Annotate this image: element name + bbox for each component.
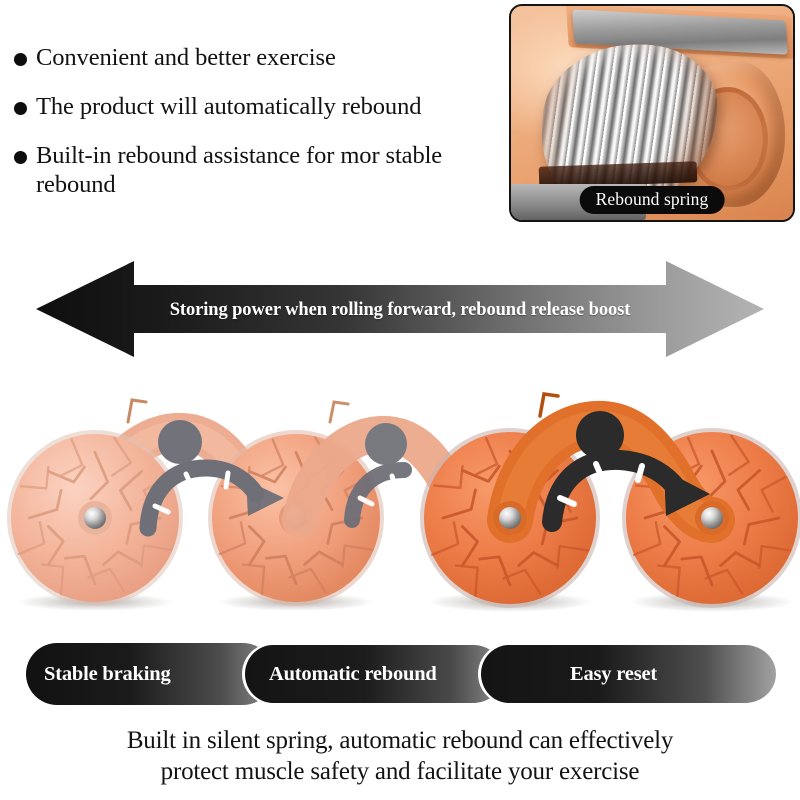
stage-active bbox=[420, 394, 800, 608]
product-photo: Rebound spring bbox=[509, 4, 795, 222]
pill-label: Easy reset bbox=[570, 663, 657, 686]
bullet-dot-icon bbox=[14, 53, 27, 66]
rebound-illustration bbox=[0, 370, 800, 620]
caption-line-1: Built in silent spring, automatic reboun… bbox=[0, 726, 800, 757]
list-item: The product will automatically rebound bbox=[14, 93, 514, 122]
footer-caption: Built in silent spring, automatic reboun… bbox=[0, 726, 800, 787]
feature-text: The product will automatically rebound bbox=[36, 93, 421, 122]
feature-text: Built-in rebound assistance for mor stab… bbox=[36, 142, 456, 200]
stage-light bbox=[7, 400, 384, 606]
benefit-pill-stable-braking: Stable braking bbox=[26, 643, 274, 705]
bullet-dot-icon bbox=[14, 102, 27, 115]
infographic-page: Convenient and better exercise The produ… bbox=[0, 0, 800, 800]
benefit-pill-easy-reset: Easy reset bbox=[478, 643, 776, 705]
status-badge: Rebound spring bbox=[580, 186, 725, 214]
double-arrow-icon bbox=[36, 255, 764, 363]
wheel-sequence-graphic bbox=[0, 370, 800, 620]
benefit-pill-bar: Stable braking Automatic rebound Easy re… bbox=[26, 643, 776, 705]
list-item: Convenient and better exercise bbox=[14, 44, 514, 73]
handle-pad bbox=[365, 423, 407, 465]
list-item: Built-in rebound assistance for mor stab… bbox=[14, 142, 514, 200]
feature-text: Convenient and better exercise bbox=[36, 44, 336, 73]
arrow-banner: Storing power when rolling forward, rebo… bbox=[36, 255, 764, 363]
benefit-pill-automatic-rebound: Automatic rebound bbox=[242, 643, 504, 705]
caption-line-2: protect muscle safety and facilitate you… bbox=[0, 757, 800, 788]
pill-label: Stable braking bbox=[44, 663, 171, 686]
pill-label: Automatic rebound bbox=[269, 663, 437, 686]
bullet-dot-icon bbox=[14, 151, 27, 164]
handle-pad bbox=[158, 420, 202, 464]
feature-list: Convenient and better exercise The produ… bbox=[14, 44, 514, 220]
